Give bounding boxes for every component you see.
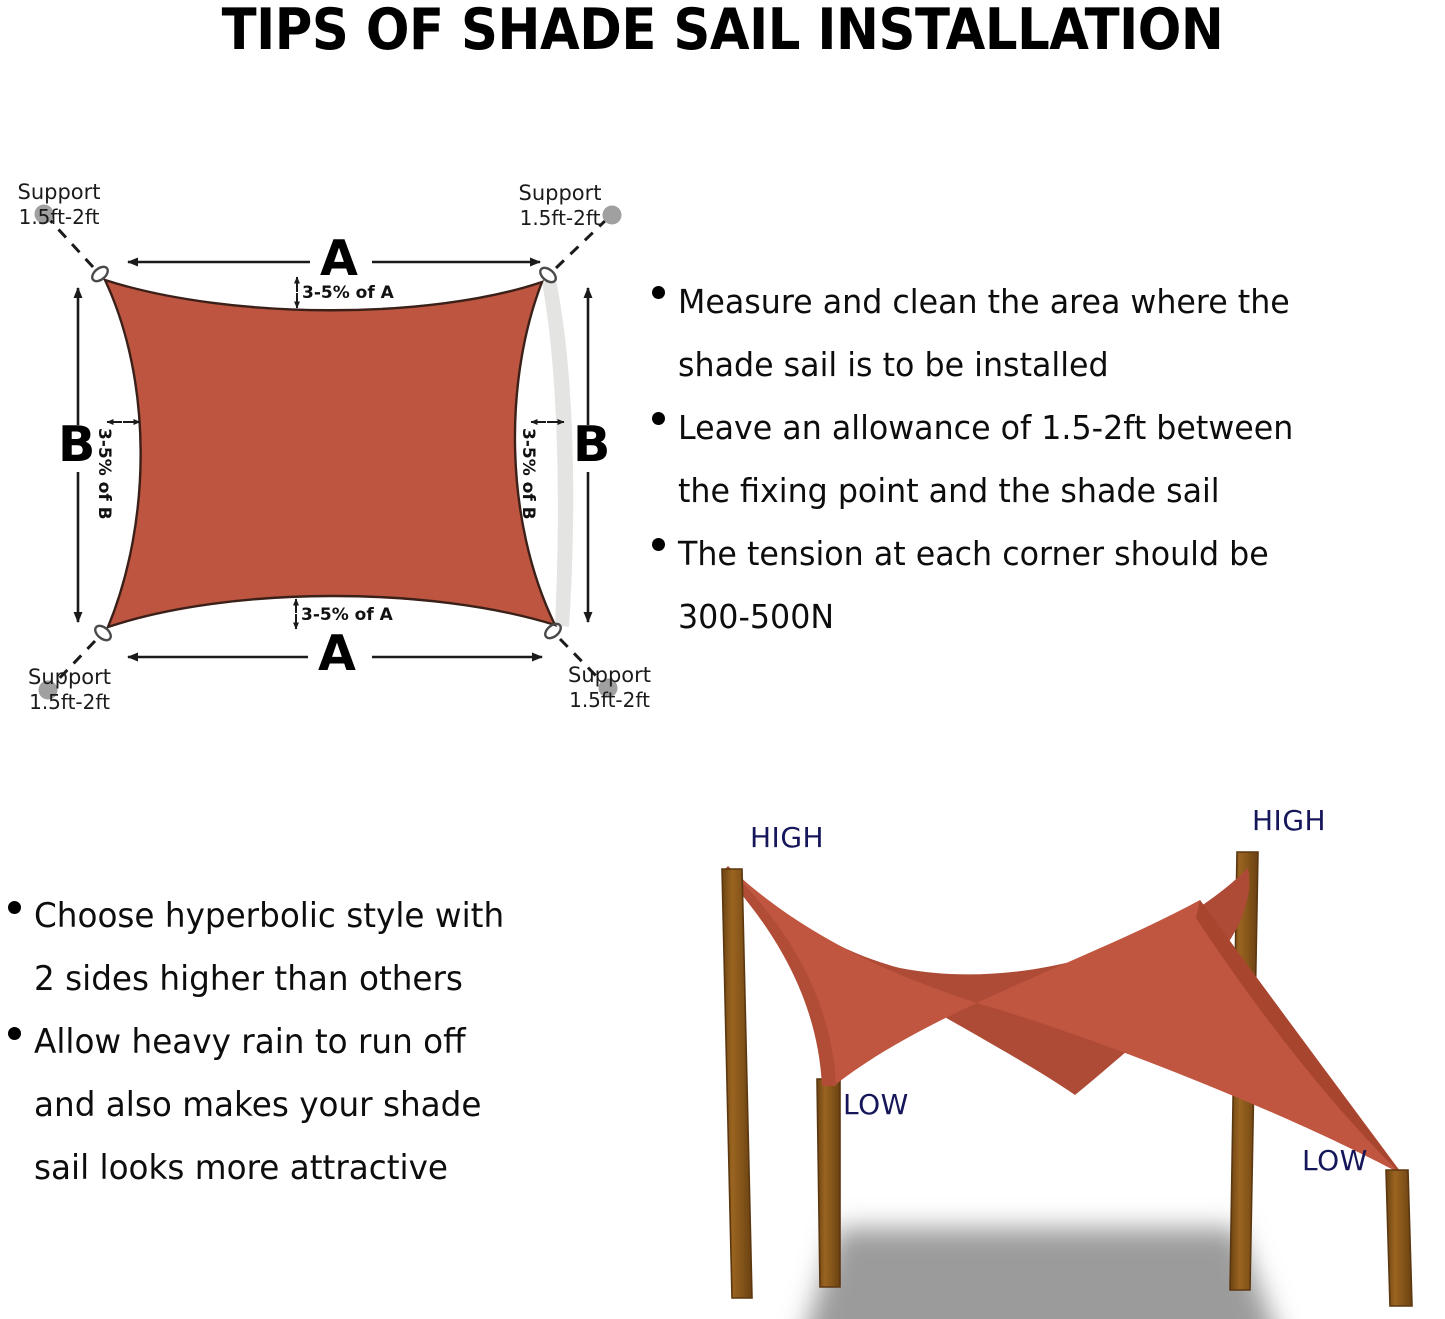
post-low-left [817, 1079, 840, 1287]
ground-shadow [790, 1228, 1295, 1319]
label-high-right: HIGH [1252, 806, 1326, 836]
label-low-right: LOW [1302, 1146, 1368, 1176]
infographic-page: TIPS OF SHADE SAIL INSTALLATION [0, 0, 1445, 1319]
hyperbolic-sail-diagram-svg [0, 0, 1445, 1319]
label-high-left: HIGH [750, 823, 824, 853]
label-low-left: LOW [843, 1090, 909, 1120]
post-high-left [722, 869, 752, 1298]
post-low-right [1386, 1170, 1412, 1306]
